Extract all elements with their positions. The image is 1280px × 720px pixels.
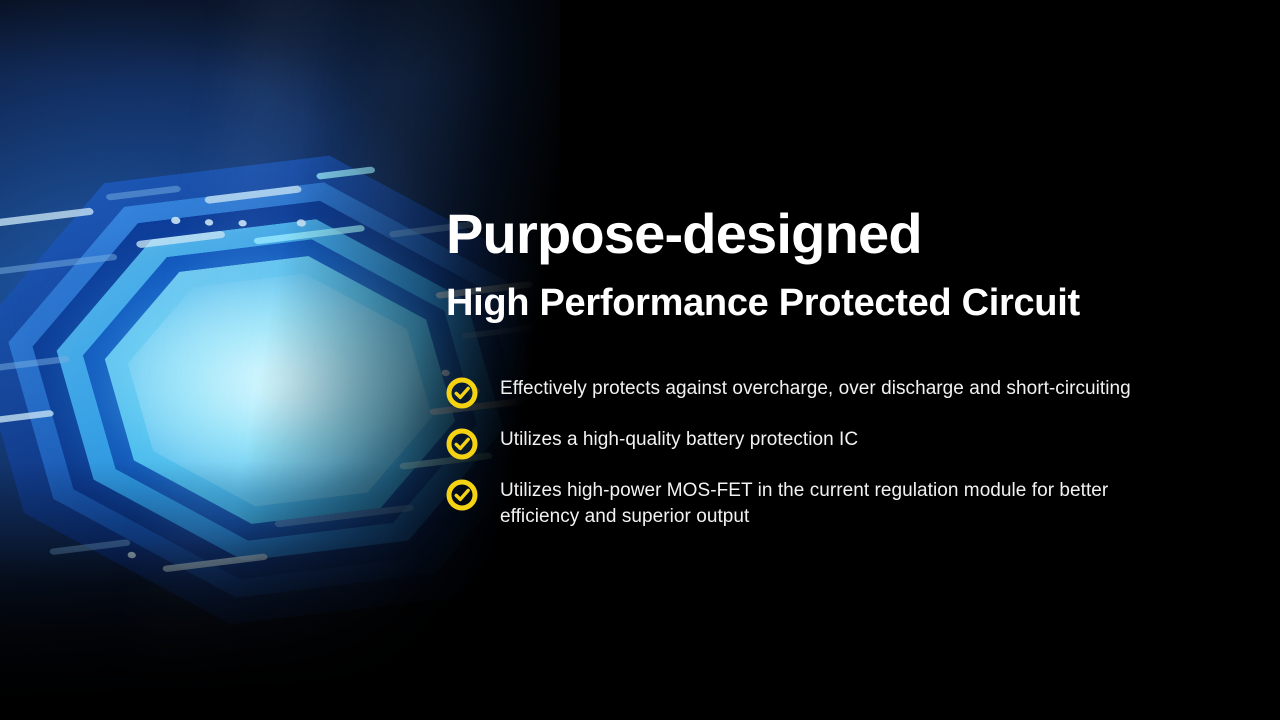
list-item: Utilizes a high-quality battery protecti… bbox=[446, 427, 1206, 460]
list-item-label: Utilizes a high-quality battery protecti… bbox=[500, 427, 858, 453]
page-title: Purpose-designed bbox=[446, 206, 1206, 262]
slide-root: Purpose-designed High Performance Protec… bbox=[0, 0, 1280, 720]
check-circle-icon bbox=[446, 479, 478, 511]
list-item: Utilizes high-power MOS-FET in the curre… bbox=[446, 478, 1206, 530]
list-item-label: Effectively protects against overcharge,… bbox=[500, 376, 1131, 402]
page-subtitle: High Performance Protected Circuit bbox=[446, 284, 1206, 322]
check-circle-icon bbox=[446, 428, 478, 460]
text-content: Purpose-designed High Performance Protec… bbox=[446, 206, 1206, 530]
feature-list: Effectively protects against overcharge,… bbox=[446, 376, 1206, 530]
list-item: Effectively protects against overcharge,… bbox=[446, 376, 1206, 409]
check-circle-icon bbox=[446, 377, 478, 409]
list-item-label: Utilizes high-power MOS-FET in the curre… bbox=[500, 478, 1190, 530]
